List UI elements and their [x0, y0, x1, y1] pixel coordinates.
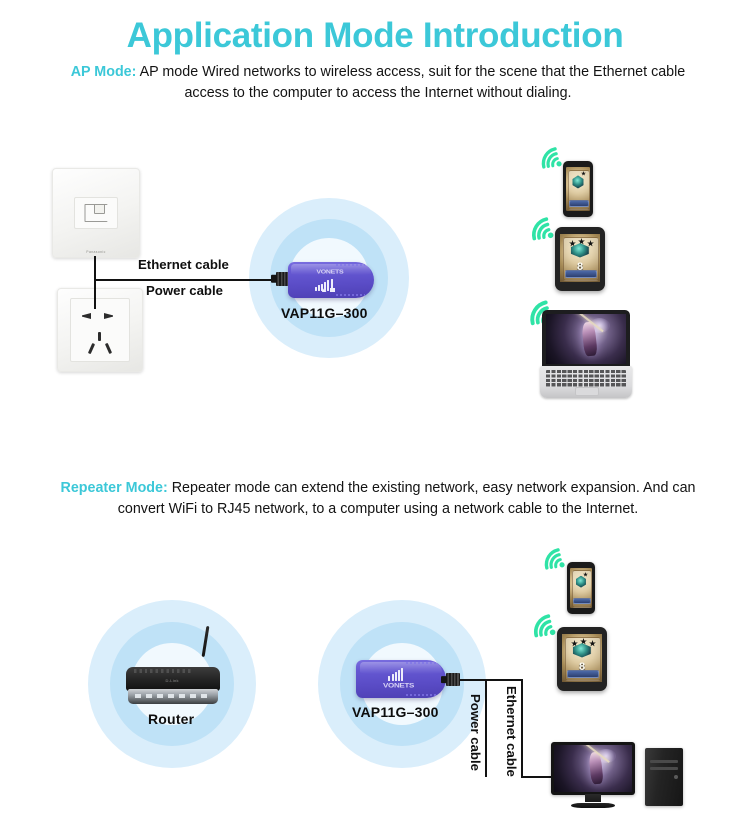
laptop-screen: [546, 314, 626, 364]
laptop: [540, 310, 632, 398]
repeater-mode-intro: Repeater Mode: Repeater mode can extend …: [48, 478, 708, 520]
repeater-ethernet-wire-2: [521, 679, 523, 777]
router-label: Router: [148, 711, 194, 727]
laptop-lid: [542, 310, 630, 368]
wall-plate-brand: Panasonic: [86, 250, 105, 254]
dongle-vent-top: [336, 264, 365, 265]
desktop-monitor: [551, 742, 635, 808]
dongle-led-icons: [322, 288, 335, 292]
repeater-ethernet-cable-label: Ethernet cable: [505, 686, 518, 777]
phone-screen: [570, 568, 592, 608]
tower-drive-slot: [650, 760, 679, 763]
socket-hole-ground: [98, 332, 101, 341]
router-front-panel: [128, 689, 218, 704]
repeater-mode-label: Repeater Mode:: [61, 480, 168, 496]
monitor-bezel: [551, 742, 635, 795]
wifi-signal-icon: [525, 213, 558, 245]
tower-drive-slot: [650, 767, 679, 770]
vonets-logo: VONETS: [383, 682, 414, 689]
pc-tower: [645, 748, 683, 806]
repeater-power-wire-2: [485, 679, 487, 777]
monitor-stand-base: [571, 803, 615, 808]
jack-inset: [74, 197, 118, 229]
socket-hole-neutral: [105, 343, 112, 354]
monitor-screen: [554, 745, 632, 792]
repeater-mode-description: Repeater mode can extend the existing ne…: [118, 480, 696, 517]
vonets-logo: VONETS: [316, 270, 343, 276]
smartphone: [563, 161, 593, 217]
signal-bars-icon: [388, 668, 403, 681]
card-ribbon: [569, 200, 589, 207]
wifi-signal-icon: [539, 544, 570, 573]
router-top-shell: D-Link: [126, 667, 220, 692]
repeater-power-cable-label: Power cable: [469, 694, 482, 771]
repeater-vap-dongle: VONETS: [356, 660, 446, 698]
laptop-wallpaper: [546, 314, 626, 364]
phone-card-art: [566, 167, 590, 211]
router: D-Link: [126, 648, 220, 710]
card-ribbon: [573, 598, 592, 605]
card-ribbon: [565, 270, 597, 278]
repeater-ethernet-wire-3: [521, 776, 551, 778]
ap-vap-dongle: VONETS: [288, 262, 374, 298]
ap-power-drop-wire: [94, 279, 96, 309]
application-mode-diagram: Application Mode Introduction AP Mode: A…: [0, 0, 750, 818]
ap-cable-run-wire: [94, 279, 284, 281]
rj45-port-tab-icon: [94, 204, 105, 214]
monitor-wallpaper: [554, 745, 632, 792]
laptop-keyboard: [546, 370, 625, 387]
dongle-vent-bottom: [406, 694, 437, 696]
tablet: 8: [557, 627, 607, 691]
ap-device-label: VAP11G–300: [281, 305, 368, 321]
ap-mode-description: AP mode Wired networks to wireless acces…: [140, 64, 686, 101]
card-ribbon: [567, 670, 599, 678]
socket-hole-live: [88, 343, 95, 354]
socket-hole-right: [104, 313, 113, 319]
ap-ethernet-cable-label: Ethernet cable: [138, 258, 229, 271]
router-vents: [134, 669, 192, 673]
tablet: 8: [555, 227, 605, 291]
tower-power-led: [674, 775, 678, 779]
phone-card-art: [570, 568, 592, 608]
router-led-strip: [135, 694, 207, 698]
phone-screen: [566, 167, 590, 211]
ap-ethernet-drop-wire: [94, 256, 96, 280]
socket-hole-left: [82, 313, 91, 319]
ethernet-wall-jack: Panasonic: [52, 168, 140, 258]
power-wall-socket: [57, 288, 143, 372]
repeater-dongle-rj45-plug: [446, 673, 460, 686]
ap-mode-intro: AP Mode: AP mode Wired networks to wirel…: [48, 62, 708, 104]
wifi-signal-icon: [527, 610, 560, 642]
repeater-device-label: VAP11G–300: [352, 704, 439, 720]
tablet-screen: 8: [560, 234, 600, 282]
wifi-signal-icon: [536, 143, 567, 172]
laptop-base: [540, 366, 632, 398]
repeater-power-wire-1: [460, 679, 486, 681]
ap-mode-label: AP Mode:: [71, 64, 137, 80]
dongle-body: VONETS: [288, 262, 374, 298]
tablet-screen: 8: [562, 634, 602, 682]
ap-power-cable-label: Power cable: [146, 284, 223, 297]
tablet-card-art: 8: [560, 234, 600, 282]
laptop-trackpad: [575, 387, 599, 396]
monitor-stand-neck: [585, 794, 602, 802]
page-title: Application Mode Introduction: [0, 18, 750, 55]
tablet-card-art: 8: [562, 634, 602, 682]
smartphone: [567, 562, 595, 614]
socket-inset: [70, 298, 130, 362]
router-brand: D-Link: [165, 678, 178, 683]
dongle-vent-bottom: [336, 294, 365, 295]
dongle-body: VONETS: [356, 660, 446, 698]
dongle-vent-top: [406, 662, 437, 664]
